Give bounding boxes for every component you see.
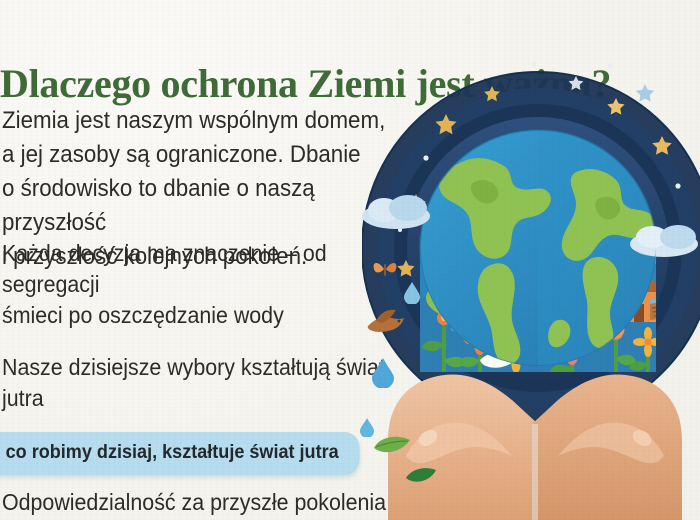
water-drop-icon (404, 282, 420, 309)
leaf-icon (404, 466, 438, 491)
poster-canvas: Dlaczego ochrona Ziemi jest ważna? Ziemi… (0, 0, 700, 520)
tagline-banner: To, co robimy dzisiaj, kształtuje świat … (0, 432, 360, 475)
tagline-container: To, co robimy dzisiaj, kształtuje świat … (0, 432, 381, 475)
